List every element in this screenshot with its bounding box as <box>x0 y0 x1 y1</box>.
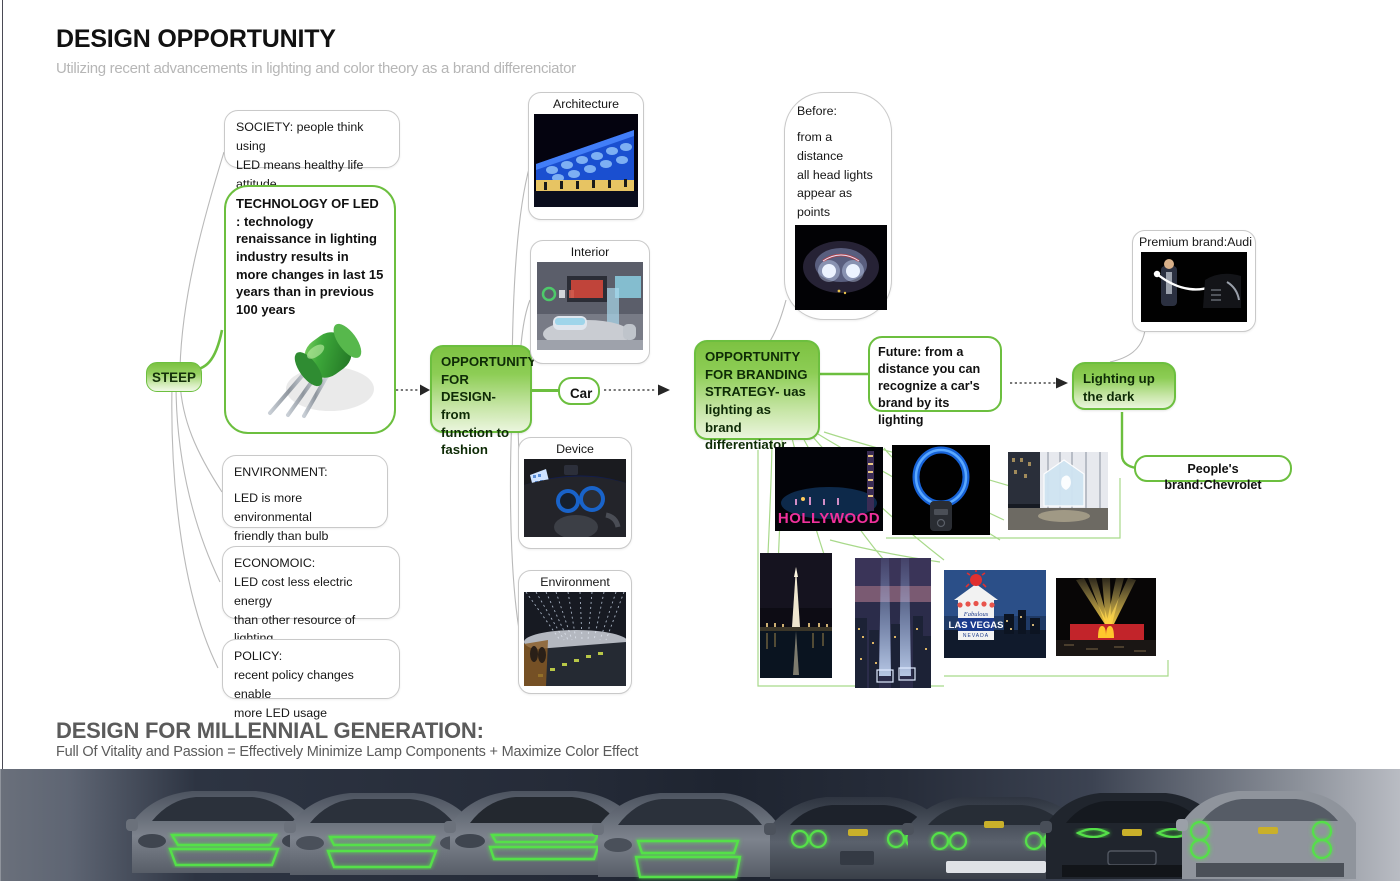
lighting-dark-line-2: dark <box>1106 389 1134 404</box>
card-environment-caption: Environment <box>519 571 631 592</box>
policy-line-1: POLICY: <box>234 647 389 666</box>
environment-line-1: ENVIRONMENT: <box>234 463 377 482</box>
node-lighting-dark-text: Lighting up the dark <box>1074 364 1174 411</box>
environment-line-2: LED is more environmental <box>234 489 377 527</box>
green-led-icon <box>246 317 386 427</box>
svg-text:Fabulous: Fabulous <box>963 611 989 618</box>
node-society[interactable]: SOCIETY: people think using LED means he… <box>224 110 400 168</box>
policy-line-2: recent policy changes enable <box>234 666 389 704</box>
node-car[interactable]: Car <box>558 377 600 405</box>
card-premium-brand-audi[interactable]: Premium brand:Audi <box>1132 230 1256 332</box>
photo-las-vegas-sign[interactable]: Fabulous LAS VEGAS NEVADA <box>944 570 1046 658</box>
society-line-1: SOCIETY: people think using <box>236 118 389 156</box>
node-opportunity-branding-text: OPPORTUNITY FOR BRANDING STRATEGY- uas l… <box>696 342 818 460</box>
node-opportunity-design-text: OPPORTUNITY FOR DESIGN- from function to… <box>432 347 530 465</box>
card-interior-image <box>537 262 643 350</box>
card-device-image <box>524 459 626 537</box>
card-premium-brand-caption: Premium brand:Audi <box>1133 231 1255 252</box>
environment-spacer <box>234 482 377 489</box>
opp-design-line-1: OPPORTUNITY <box>441 354 536 369</box>
opp-design-line-3: from function to <box>441 407 509 440</box>
node-peoples-brand-chevrolet[interactable]: People's brand:Chevrolet <box>1134 455 1292 482</box>
photo-bladeless-fan[interactable] <box>892 445 990 535</box>
opp-design-line-2: FOR DESIGN- <box>441 372 496 405</box>
card-device-caption: Device <box>519 438 631 459</box>
card-before-text: Before: from a distance all head lights … <box>785 93 891 245</box>
photo-mcdonalds-light-beams[interactable] <box>1056 578 1156 656</box>
card-environment-domain[interactable]: Environment <box>518 570 632 694</box>
card-interior[interactable]: Interior <box>530 240 650 364</box>
page-subtitle: Utilizing recent advancements in lightin… <box>56 60 576 77</box>
svg-text:HOLLYWOOD: HOLLYWOOD <box>778 510 880 527</box>
before-line-1: from a distance <box>797 128 881 166</box>
node-future[interactable]: Future: from a distance you can recogniz… <box>868 336 1002 412</box>
before-heading: Before: <box>797 102 881 121</box>
design-to-car-link <box>532 389 560 392</box>
node-peoples-brand-label: People's brand:Chevrolet <box>1136 457 1290 498</box>
card-interior-caption: Interior <box>531 241 649 262</box>
before-line-2: all head lights <box>797 166 881 185</box>
future-line-3: brand by its lighting <box>878 396 949 427</box>
node-policy[interactable]: POLICY: recent policy changes enable mor… <box>222 639 400 699</box>
before-spacer <box>797 121 881 128</box>
card-architecture-image <box>534 114 638 207</box>
tech-line-2: technology renaissance in <box>236 214 326 247</box>
tech-line-5: years than in previous 100 <box>236 284 374 317</box>
node-environment[interactable]: ENVIRONMENT: LED is more environmental f… <box>222 455 388 528</box>
node-steep[interactable]: STEEP <box>146 362 202 392</box>
node-technology-of-led[interactable]: TECHNOLOGY OF LED : technology renaissan… <box>224 185 396 434</box>
economic-line-2: LED cost less electric energy <box>234 573 389 611</box>
photo-washington-monument[interactable] <box>760 553 832 678</box>
car-silhouettes <box>0 769 1400 881</box>
svg-text:NEVADA: NEVADA <box>963 633 989 639</box>
opp-brand-line-3: STRATEGY- <box>705 384 780 399</box>
card-device[interactable]: Device <box>518 437 632 549</box>
before-line-3: appear as points <box>797 184 881 222</box>
node-technology-text: TECHNOLOGY OF LED : technology renaissan… <box>226 187 394 327</box>
node-environment-text: ENVIRONMENT: LED is more environmental f… <box>223 456 387 552</box>
node-policy-text: POLICY: recent policy changes enable mor… <box>223 640 399 729</box>
society-line-2: LED means healthy life <box>236 156 389 175</box>
car-rear-4 <box>1176 791 1356 879</box>
left-margin-rule <box>2 0 3 770</box>
svg-text:LAS VEGAS: LAS VEGAS <box>949 620 1004 631</box>
opp-brand-line-1: OPPORTUNITY <box>705 349 800 364</box>
car-front-4 <box>592 793 780 877</box>
car-lighting-strip <box>0 769 1400 881</box>
environment-line-3: friendly than bulb <box>234 527 377 546</box>
economic-line-1: ECONOMOIC: <box>234 554 389 573</box>
page-title: DESIGN OPPORTUNITY <box>56 25 336 54</box>
node-opportunity-for-branding[interactable]: OPPORTUNITY FOR BRANDING STRATEGY- uas l… <box>694 340 820 440</box>
future-heading: Future: <box>878 345 921 359</box>
node-lighting-up-the-dark[interactable]: Lighting up the dark <box>1072 362 1176 410</box>
photo-hollywood[interactable]: HOLLYWOOD <box>775 447 883 531</box>
opp-design-line-4: fashion <box>441 442 488 457</box>
photo-apple-store-cube[interactable] <box>1008 452 1108 530</box>
photo-tribute-in-light[interactable] <box>855 558 931 688</box>
node-car-label: Car <box>560 379 598 408</box>
card-before[interactable]: Before: from a distance all head lights … <box>784 92 892 320</box>
node-opportunity-for-design[interactable]: OPPORTUNITY FOR DESIGN- from function to… <box>430 345 532 433</box>
card-architecture[interactable]: Architecture <box>528 92 644 220</box>
tech-line-6: years <box>261 302 295 317</box>
tech-line-4: more changes in last 15 <box>236 267 383 282</box>
node-future-text: Future: from a distance you can recogniz… <box>870 338 1000 434</box>
card-premium-brand-image <box>1141 252 1247 322</box>
node-economic[interactable]: ECONOMOIC: LED cost less electric energy… <box>222 546 400 619</box>
card-architecture-caption: Architecture <box>529 93 643 114</box>
opp-brand-line-2: FOR BRANDING <box>705 367 808 382</box>
card-before-image <box>795 225 887 310</box>
card-environment-image <box>524 592 626 686</box>
footer-title: DESIGN FOR MILLENNIAL GENERATION: <box>56 718 484 744</box>
footer-subtitle: Full Of Vitality and Passion = Effective… <box>56 744 638 760</box>
node-steep-label: STEEP <box>147 363 201 392</box>
